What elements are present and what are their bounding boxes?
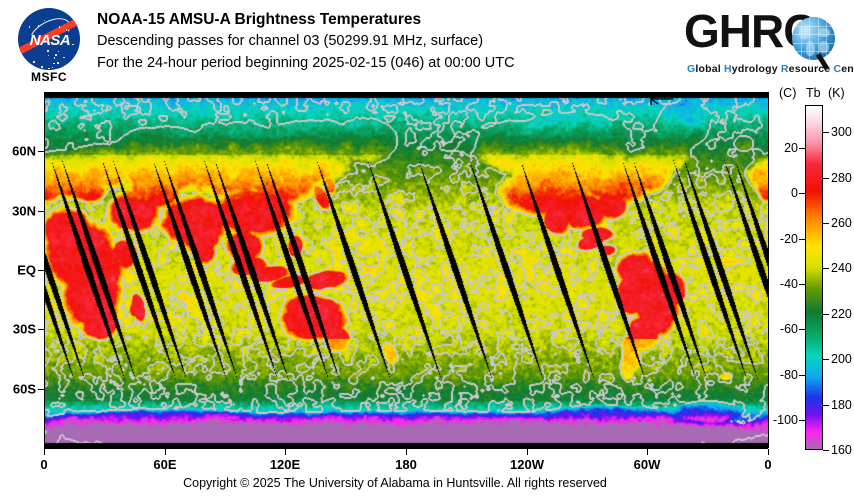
globe-landmass	[806, 41, 815, 56]
colorbar-label-kelvin: 160	[831, 443, 852, 457]
axis-label-lat: 30N	[2, 204, 36, 219]
colorbar-label-celsius: 0	[791, 186, 798, 200]
axis-label-lon: 120E	[270, 457, 300, 472]
brightness-temperature-map-page: NASA MSFC NOAA-15 AMSU-A Brightness Temp…	[0, 0, 854, 502]
nasa-star	[66, 67, 68, 69]
colorbar-tick-kelvin	[823, 450, 829, 451]
nasa-meatball-icon: NASA	[18, 8, 80, 70]
colorbar-tick-celsius	[799, 329, 805, 330]
colorbar-label-kelvin: 180	[831, 398, 852, 412]
axis-top	[44, 92, 768, 93]
axis-label-lon: 0	[764, 457, 771, 472]
axis-label-lon: 120W	[510, 457, 544, 472]
axis-tick-lon	[527, 449, 528, 455]
colorbar-tick-kelvin	[823, 405, 829, 406]
colorbar-gradient	[806, 106, 822, 449]
colorbar-tick-kelvin	[823, 223, 829, 224]
nasa-star	[58, 51, 60, 53]
copyright-notice: Copyright © 2025 The University of Alaba…	[0, 476, 790, 490]
nasa-star	[66, 29, 68, 31]
ghrc-subtitle-part: lobal	[695, 63, 724, 75]
colorbar-tick-celsius	[799, 420, 805, 421]
axis-label-lat: 30S	[2, 322, 36, 337]
nasa-star	[29, 26, 31, 28]
axis-label-lon: 0	[40, 457, 47, 472]
axis-tick-lon	[406, 449, 407, 455]
axis-tick-lat	[38, 270, 44, 271]
title-block: NOAA-15 AMSU-A Brightness Temperatures D…	[97, 9, 515, 74]
ghrc-logo: GHRC Global Hydrology Resource Center	[684, 8, 846, 80]
nasa-star	[32, 68, 34, 70]
subtitle-channel: Descending passes for channel 03 (50299.…	[97, 30, 515, 52]
nasa-star	[54, 57, 56, 59]
page-title: NOAA-15 AMSU-A Brightness Temperatures	[97, 9, 515, 30]
colorbar-label-celsius: -80	[780, 368, 798, 382]
colorbar-tick-celsius	[799, 284, 805, 285]
colorbar-label-celsius: -20	[780, 232, 798, 246]
nasa-star	[48, 55, 50, 57]
axis-label-lon: 60E	[153, 457, 176, 472]
nasa-star	[57, 62, 59, 64]
colorbar-label-kelvin: 240	[831, 261, 852, 275]
colorbar-label-kelvin: 300	[831, 125, 852, 139]
nasa-star	[52, 67, 54, 69]
nasa-star	[31, 12, 33, 14]
colorbar-celsius-header: (C)	[779, 86, 796, 100]
colorbar-tick-celsius	[799, 375, 805, 376]
brightness-temperature-raster[interactable]	[44, 92, 768, 448]
nasa-star	[53, 63, 55, 65]
colorbar-label-celsius: -100	[773, 413, 798, 427]
nasa-star	[48, 68, 50, 70]
nasa-logo: NASA MSFC	[10, 6, 88, 86]
colorbar-label-celsius: -60	[780, 322, 798, 336]
subtitle-period: For the 24-hour period beginning 2025-02…	[97, 52, 515, 74]
colorbar[interactable]	[805, 105, 823, 450]
colorbar-tick-kelvin	[823, 268, 829, 269]
axis-tick-lat	[38, 151, 44, 152]
axis-tick-lat	[38, 329, 44, 330]
axis-label-lon: 180	[395, 457, 417, 472]
colorbar-label-kelvin: 260	[831, 216, 852, 230]
nasa-wordmark: NASA	[28, 32, 72, 49]
axis-tick-lon	[285, 449, 286, 455]
colorbar-label-celsius: -40	[780, 277, 798, 291]
ghrc-subtitle-part: ydrology	[732, 63, 781, 75]
nasa-star	[33, 61, 35, 63]
colorbar-tick-celsius	[799, 239, 805, 240]
ghrc-subtitle-part: R	[781, 63, 789, 75]
nasa-star	[78, 67, 80, 69]
globe-landmass	[799, 26, 810, 39]
axis-label-lon: 60W	[634, 457, 661, 472]
axis-tick-lon	[647, 449, 648, 455]
axis-right	[768, 92, 769, 448]
colorbar-label-celsius: 20	[784, 141, 798, 155]
colorbar-kelvin-header: (K)	[828, 86, 845, 100]
globe-landmass	[819, 41, 829, 53]
nasa-star	[41, 66, 43, 68]
axis-tick-lat	[38, 389, 44, 390]
nasa-star	[44, 20, 46, 22]
axis-tick-lat	[38, 211, 44, 212]
msfc-label: MSFC	[10, 70, 88, 84]
ghrc-subtitle: Global Hydrology Resource Center	[687, 63, 854, 75]
colorbar-tick-celsius	[799, 148, 805, 149]
axis-tick-lon	[768, 449, 769, 455]
nasa-star	[72, 44, 74, 46]
nasa-star	[23, 17, 25, 19]
colorbar-tick-kelvin	[823, 359, 829, 360]
nasa-star	[27, 11, 29, 13]
axis-label-lat: EQ	[2, 263, 36, 278]
nasa-star	[78, 26, 80, 28]
axis-tick-lon	[44, 449, 45, 455]
colorbar-label-kelvin: 280	[831, 171, 852, 185]
ghrc-subtitle-part: H	[724, 63, 732, 75]
colorbar-tick-kelvin	[823, 314, 829, 315]
colorbar-tick-kelvin	[823, 132, 829, 133]
globe-meridian	[826, 17, 827, 60]
axis-label-lat: 60S	[2, 382, 36, 397]
globe-landmass	[818, 28, 830, 37]
nasa-star	[55, 54, 57, 56]
ghrc-subtitle-part: esource	[789, 63, 834, 75]
colorbar-label-kelvin: 220	[831, 307, 852, 321]
axis-label-lat: 60N	[2, 144, 36, 159]
map-panel[interactable]	[44, 92, 768, 448]
colorbar-variable-header: Tb	[806, 86, 821, 100]
colorbar-tick-kelvin	[823, 178, 829, 179]
colorbar-label-kelvin: 200	[831, 352, 852, 366]
ghrc-subtitle-part: enter	[841, 63, 854, 75]
globe-icon	[792, 17, 835, 60]
nasa-star	[59, 26, 61, 28]
axis-left	[44, 92, 45, 448]
axis-tick-lon	[165, 449, 166, 455]
nasa-star	[63, 57, 65, 59]
colorbar-tick-celsius	[799, 193, 805, 194]
globe-parallel	[792, 26, 835, 27]
nasa-star	[47, 50, 49, 52]
